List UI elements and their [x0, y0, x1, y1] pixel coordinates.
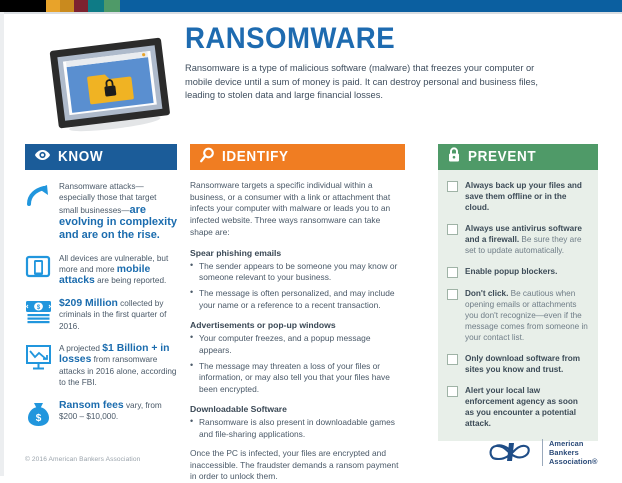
- magnifying-glass-icon: [199, 147, 215, 168]
- know-fact-text: $209 Million collected by criminals in t…: [59, 298, 177, 332]
- prevent-checklist-item[interactable]: Only download software from sites you kn…: [447, 353, 589, 375]
- logo-line-3: Association®: [549, 457, 598, 466]
- checkbox-icon[interactable]: [447, 224, 458, 235]
- prevent-header: PREVENT: [438, 144, 598, 170]
- checkbox-icon[interactable]: [447, 267, 458, 278]
- strip-swatch-green: [104, 0, 120, 12]
- aba-logo-mark: [487, 438, 535, 466]
- identify-header: IDENTIFY: [190, 144, 405, 170]
- know-fact-text: Ransomware attacks—especially those that…: [59, 181, 177, 242]
- identify-intro: Ransomware targets a specific individual…: [190, 180, 403, 239]
- know-fact-item: $ $209 Million collected by criminals in…: [25, 298, 177, 332]
- devices-mobile-icon: [25, 253, 52, 281]
- logo-line-1: American: [549, 439, 598, 448]
- prevent-checklist-item[interactable]: Alert your local law enforcement agency …: [447, 385, 589, 429]
- hero-section: RANSOMWARE Ransomware is a type of malic…: [0, 20, 622, 140]
- section-prevent: PREVENT Always back up your files and sa…: [438, 144, 598, 441]
- padlock-icon: [447, 147, 461, 168]
- hero-description: Ransomware is a type of malicious softwa…: [185, 62, 557, 103]
- chart-decline-icon: [25, 343, 52, 371]
- aba-logo: American Bankers Association®: [487, 436, 597, 468]
- svg-text:$: $: [36, 413, 42, 424]
- checkbox-icon[interactable]: [447, 181, 458, 192]
- know-fact-item: Ransomware attacks—especially those that…: [25, 181, 177, 242]
- eye-icon: [34, 148, 51, 166]
- strip-swatch-maroon: [74, 0, 88, 12]
- monitor-locked-folder-icon: [36, 34, 184, 134]
- prevent-item-text: Always use antivirus software and a fire…: [465, 223, 589, 256]
- identify-group-heading: Spear phishing emails: [190, 248, 403, 258]
- know-fact-item: $ Ransom fees vary, from $200 – $10,000.: [25, 400, 177, 428]
- strip-swatch-blue: [120, 0, 622, 12]
- logo-line-2: Bankers: [549, 448, 598, 457]
- identify-group-heading: Advertisements or pop-up windows: [190, 320, 403, 330]
- trend-arrow-up-icon: [25, 181, 52, 209]
- prevent-item-text: Enable popup blockers.: [465, 266, 557, 278]
- page-title: RANSOMWARE: [185, 24, 553, 54]
- header-divider: [0, 12, 622, 14]
- identify-group-heading: Downloadable Software: [190, 404, 403, 414]
- brand-color-strip: [0, 0, 622, 12]
- checkbox-icon[interactable]: [447, 289, 458, 300]
- prevent-item-text: Alert your local law enforcement agency …: [465, 385, 589, 429]
- strip-swatch-dark-gold: [60, 0, 74, 12]
- know-header: KNOW: [25, 144, 177, 170]
- page-footer: © 2016 American Bankers Association Amer…: [0, 432, 622, 476]
- identify-title: IDENTIFY: [222, 149, 289, 165]
- prevent-checklist-item[interactable]: Always back up your files and save them …: [447, 180, 589, 213]
- know-fact-item: All devices are vulnerable, but more and…: [25, 253, 177, 287]
- know-fact-text: All devices are vulnerable, but more and…: [59, 253, 177, 287]
- identify-bullet: The message may threaten a loss of your …: [190, 361, 403, 395]
- prevent-checklist-panel: Always back up your files and save them …: [438, 170, 598, 441]
- money-bills-icon: $: [25, 298, 52, 326]
- hero-text-block: RANSOMWARE Ransomware is a type of malic…: [185, 24, 585, 103]
- prevent-item-text: Only download software from sites you kn…: [465, 353, 589, 375]
- know-fact-text: A projected $1 Billion + in losses from …: [59, 343, 177, 389]
- three-column-area: KNOW Ransomware attacks—especially those…: [0, 144, 622, 420]
- aba-wordmark: American Bankers Association®: [542, 439, 598, 466]
- money-bag-icon: $: [25, 400, 52, 428]
- strip-swatch-gold: [46, 0, 60, 12]
- prevent-item-text: Don't click. Be cautious when opening em…: [465, 288, 589, 343]
- prevent-checklist-item[interactable]: Always use antivirus software and a fire…: [447, 223, 589, 256]
- know-title: KNOW: [58, 149, 103, 165]
- infographic-page: RANSOMWARE Ransomware is a type of malic…: [0, 0, 622, 476]
- checkbox-icon[interactable]: [447, 354, 458, 365]
- prevent-checklist-item[interactable]: Enable popup blockers.: [447, 266, 589, 278]
- prevent-item-text: Always back up your files and save them …: [465, 180, 589, 213]
- identify-bullet: The sender appears to be someone you may…: [190, 261, 403, 284]
- know-fact-text: Ransom fees vary, from $200 – $10,000.: [59, 400, 177, 428]
- section-know: KNOW Ransomware attacks—especially those…: [25, 144, 177, 439]
- strip-swatch-black: [0, 0, 46, 12]
- identify-bullet: The message is often personalized, and m…: [190, 288, 403, 311]
- copyright-text: © 2016 American Bankers Association: [25, 456, 140, 463]
- checkbox-icon[interactable]: [447, 386, 458, 397]
- identify-bullet: Your computer freezes, and a popup messa…: [190, 333, 403, 356]
- know-facts-list: Ransomware attacks—especially those that…: [25, 170, 177, 428]
- strip-swatch-teal: [88, 0, 104, 12]
- prevent-title: PREVENT: [468, 149, 536, 165]
- prevent-checklist-item[interactable]: Don't click. Be cautious when opening em…: [447, 288, 589, 343]
- know-fact-item: A projected $1 Billion + in losses from …: [25, 343, 177, 389]
